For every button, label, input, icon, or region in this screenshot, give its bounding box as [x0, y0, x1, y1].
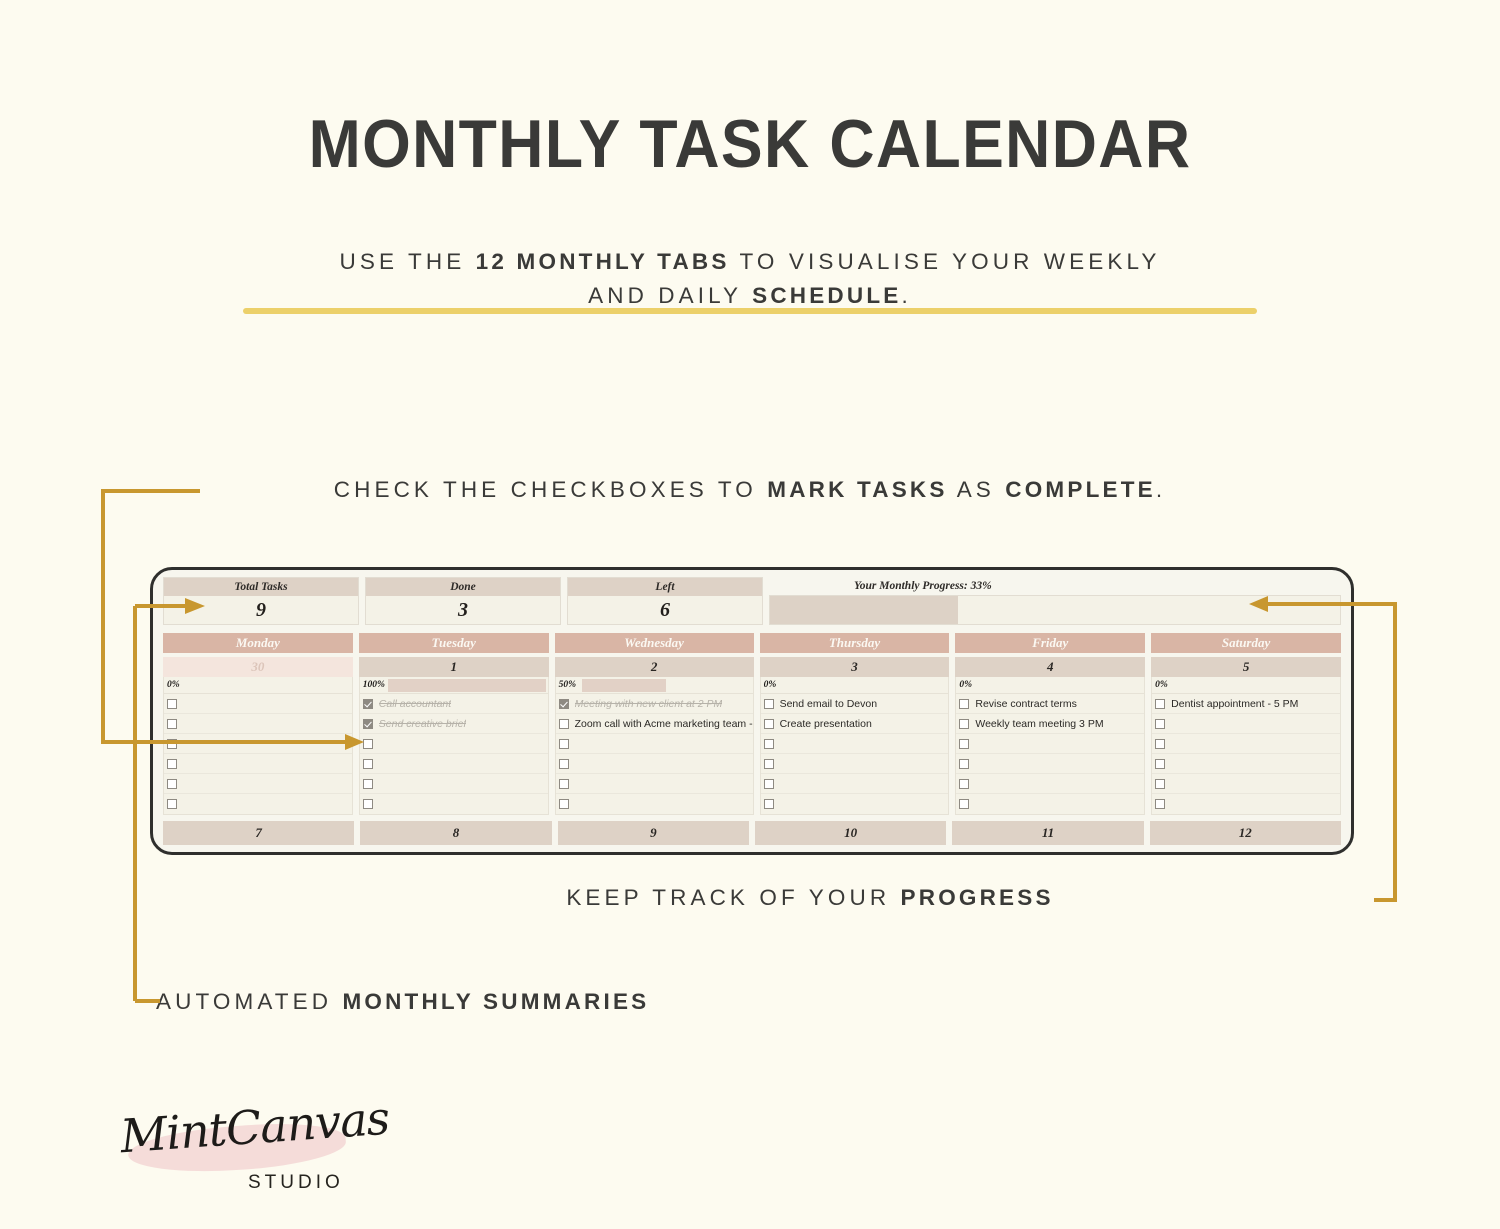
task-row[interactable] — [164, 774, 352, 794]
task-checkbox[interactable] — [764, 699, 774, 709]
day-date-cell[interactable]: 8 — [360, 821, 551, 845]
next-week-day-column: 7 — [163, 821, 354, 845]
day-date-cell[interactable]: 2 — [555, 657, 754, 677]
task-row[interactable] — [1152, 794, 1340, 814]
task-checkbox[interactable] — [559, 699, 569, 709]
day-progress-row: 0% — [760, 677, 950, 694]
task-row[interactable] — [761, 774, 949, 794]
day-progress-track — [982, 679, 1142, 692]
task-row[interactable] — [956, 734, 1144, 754]
task-checkbox[interactable] — [959, 759, 969, 769]
task-checkbox[interactable] — [1155, 779, 1165, 789]
task-label[interactable]: Send creative brief — [379, 718, 467, 730]
stat-label: Total Tasks — [164, 578, 358, 596]
task-row[interactable] — [360, 774, 548, 794]
day-progress-fill — [582, 679, 666, 692]
task-checkbox[interactable] — [167, 799, 177, 809]
task-row[interactable]: Create presentation — [761, 714, 949, 734]
week-row-1: Monday300%Tuesday1100%Call accountantSen… — [159, 625, 1345, 815]
task-row[interactable]: Send email to Devon — [761, 694, 949, 714]
task-list: Dentist appointment - 5 PM — [1151, 694, 1341, 815]
task-checkbox[interactable] — [1155, 699, 1165, 709]
task-checkbox[interactable] — [559, 759, 569, 769]
task-row[interactable] — [164, 694, 352, 714]
day-progress-row: 0% — [1151, 677, 1341, 694]
day-column-friday: Friday40%Revise contract termsWeekly tea… — [955, 633, 1145, 815]
day-progress-row: 50% — [555, 677, 754, 694]
title-divider — [243, 308, 1257, 314]
day-column-tuesday: Tuesday1100%Call accountantSend creative… — [359, 633, 549, 815]
day-progress-row: 100% — [359, 677, 549, 694]
task-row[interactable] — [360, 734, 548, 754]
task-checkbox[interactable] — [1155, 799, 1165, 809]
task-row[interactable] — [164, 734, 352, 754]
day-progress-track — [787, 679, 947, 692]
stat-value: 9 — [164, 596, 358, 624]
day-date-cell[interactable]: 5 — [1151, 657, 1341, 677]
task-row[interactable] — [956, 754, 1144, 774]
monthly-progress-track — [769, 595, 1341, 625]
task-label[interactable]: Create presentation — [780, 718, 872, 730]
task-checkbox[interactable] — [167, 759, 177, 769]
logo-studio-label: STUDIO — [248, 1172, 344, 1194]
task-row[interactable] — [1152, 754, 1340, 774]
instruction-emphasis: MONTHLY SUMMARIES — [342, 989, 649, 1014]
task-checkbox[interactable] — [959, 799, 969, 809]
task-row[interactable] — [956, 794, 1144, 814]
task-label[interactable]: Meeting with new client at 2 PM — [575, 698, 723, 710]
day-name-header: Thursday — [760, 633, 950, 653]
task-list: Revise contract termsWeekly team meeting… — [955, 694, 1145, 815]
monthly-progress-label: Your Monthly Progress: 33% — [769, 577, 1341, 595]
stat-label: Done — [366, 578, 560, 596]
brand-logo: MintCanvas STUDIO — [120, 1100, 370, 1205]
instruction-emphasis: SCHEDULE — [752, 283, 901, 308]
task-checkbox[interactable] — [559, 719, 569, 729]
stat-label: Left — [568, 578, 762, 596]
task-checkbox[interactable] — [764, 779, 774, 789]
task-label[interactable]: Call accountant — [379, 698, 451, 710]
task-list — [163, 694, 353, 815]
task-list: Send email to DevonCreate presentation — [760, 694, 950, 815]
stat-total-tasks: Total Tasks 9 — [163, 577, 359, 625]
task-checkbox[interactable] — [1155, 719, 1165, 729]
task-label[interactable]: Weekly team meeting 3 PM — [975, 718, 1103, 730]
task-row[interactable]: Revise contract terms — [956, 694, 1144, 714]
task-checkbox[interactable] — [363, 699, 373, 709]
instruction-block-progress: KEEP TRACK OF YOUR PROGRESS — [0, 885, 1500, 911]
task-row[interactable] — [761, 754, 949, 774]
task-checkbox[interactable] — [764, 739, 774, 749]
task-checkbox[interactable] — [363, 719, 373, 729]
day-progress-label: 0% — [761, 680, 787, 690]
instruction-emphasis: 12 MONTHLY TABS — [476, 249, 730, 274]
day-name-header: Wednesday — [555, 633, 754, 653]
instruction-text: . — [901, 283, 911, 308]
day-progress-row: 0% — [163, 677, 353, 694]
day-date-cell[interactable]: 30 — [163, 657, 353, 677]
task-label[interactable]: Revise contract terms — [975, 698, 1077, 710]
day-progress-track — [582, 679, 751, 692]
instruction-text: USE THE — [340, 249, 476, 274]
task-row[interactable] — [1152, 774, 1340, 794]
task-checkbox[interactable] — [1155, 759, 1165, 769]
task-row[interactable] — [1152, 714, 1340, 734]
day-progress-label: 0% — [164, 680, 190, 690]
day-name-header: Tuesday — [359, 633, 549, 653]
day-progress-track — [1178, 679, 1338, 692]
day-column-thursday: Thursday30%Send email to DevonCreate pre… — [760, 633, 950, 815]
day-date-cell[interactable]: 3 — [760, 657, 950, 677]
task-label[interactable]: Send email to Devon — [780, 698, 877, 710]
day-progress-track — [388, 679, 546, 692]
stat-left: Left 6 — [567, 577, 763, 625]
day-progress-label: 50% — [556, 680, 582, 690]
instruction-text: AUTOMATED — [156, 989, 342, 1014]
instruction-block-tabs: USE THE 12 MONTHLY TABS TO VISUALISE YOU… — [0, 245, 1500, 313]
monthly-progress-fill — [770, 596, 958, 624]
task-row[interactable] — [164, 754, 352, 774]
day-progress-fill — [388, 679, 546, 692]
task-checkbox[interactable] — [1155, 739, 1165, 749]
task-checkbox[interactable] — [363, 739, 373, 749]
task-checkbox[interactable] — [559, 739, 569, 749]
task-row[interactable] — [556, 754, 753, 774]
day-progress-label: 0% — [1152, 680, 1178, 690]
task-list: Call accountantSend creative brief — [359, 694, 549, 815]
task-row[interactable]: Dentist appointment - 5 PM — [1152, 694, 1340, 714]
day-date-cell[interactable]: 9 — [558, 821, 749, 845]
day-column-wednesday: Wednesday250%Meeting with new client at … — [555, 633, 754, 815]
task-checkbox[interactable] — [559, 799, 569, 809]
instruction-text: . — [1156, 477, 1166, 502]
task-checkbox[interactable] — [167, 779, 177, 789]
next-week-day-column: 12 — [1150, 821, 1341, 845]
instruction-block-checkboxes: CHECK THE CHECKBOXES TO MARK TASKS AS CO… — [0, 477, 1500, 503]
page-title: MONTHLY TASK CALENDAR — [60, 105, 1440, 183]
day-date-cell[interactable]: 10 — [755, 821, 946, 845]
task-row[interactable]: Send creative brief — [360, 714, 548, 734]
stat-value: 6 — [568, 596, 762, 624]
task-checkbox[interactable] — [959, 779, 969, 789]
day-progress-label: 100% — [360, 680, 388, 690]
day-progress-label: 0% — [956, 680, 982, 690]
task-checkbox[interactable] — [167, 739, 177, 749]
week-row-2: 789101112 — [159, 815, 1345, 845]
day-progress-row: 0% — [955, 677, 1145, 694]
instruction-text: CHECK THE CHECKBOXES TO — [334, 477, 767, 502]
task-list: Meeting with new client at 2 PMZoom call… — [555, 694, 754, 815]
task-label[interactable]: Zoom call with Acme marketing team - — [575, 718, 753, 730]
instruction-text: KEEP TRACK OF YOUR — [566, 885, 900, 910]
day-name-header: Monday — [163, 633, 353, 653]
task-checkbox[interactable] — [363, 799, 373, 809]
next-week-day-column: 9 — [558, 821, 749, 845]
task-row[interactable] — [556, 774, 753, 794]
day-column-monday: Monday300% — [163, 633, 353, 815]
task-row[interactable] — [164, 714, 352, 734]
task-row[interactable] — [556, 734, 753, 754]
day-date-cell[interactable]: 7 — [163, 821, 354, 845]
task-checkbox[interactable] — [764, 799, 774, 809]
monthly-progress: Your Monthly Progress: 33% — [769, 577, 1341, 625]
task-checkbox[interactable] — [959, 699, 969, 709]
task-row[interactable] — [761, 734, 949, 754]
day-date-cell[interactable]: 12 — [1150, 821, 1341, 845]
instruction-emphasis: MARK TASKS — [767, 477, 947, 502]
day-date-cell[interactable]: 4 — [955, 657, 1145, 677]
day-column-saturday: Saturday50%Dentist appointment - 5 PM — [1151, 633, 1341, 815]
instruction-line-1: USE THE 12 MONTHLY TABS TO VISUALISE YOU… — [0, 245, 1500, 279]
task-checkbox[interactable] — [559, 779, 569, 789]
task-row[interactable] — [164, 794, 352, 814]
task-checkbox[interactable] — [764, 719, 774, 729]
day-date-cell[interactable]: 11 — [952, 821, 1143, 845]
day-date-cell[interactable]: 1 — [359, 657, 549, 677]
task-checkbox[interactable] — [363, 759, 373, 769]
day-name-header: Saturday — [1151, 633, 1341, 653]
task-row[interactable] — [761, 794, 949, 814]
stat-value: 3 — [366, 596, 560, 624]
next-week-day-column: 10 — [755, 821, 946, 845]
instruction-emphasis: COMPLETE — [1005, 477, 1156, 502]
task-row[interactable] — [956, 774, 1144, 794]
stat-done: Done 3 — [365, 577, 561, 625]
instruction-text: AND DAILY — [588, 283, 752, 308]
task-row[interactable] — [1152, 734, 1340, 754]
day-progress-track — [190, 679, 350, 692]
summary-row: Total Tasks 9 Done 3 Left 6 Your Monthly… — [159, 577, 1345, 625]
next-week-day-column: 11 — [952, 821, 1143, 845]
task-checkbox[interactable] — [959, 719, 969, 729]
task-row[interactable]: Call accountant — [360, 694, 548, 714]
instruction-block-summaries: AUTOMATED MONTHLY SUMMARIES — [156, 989, 649, 1015]
task-row[interactable]: Weekly team meeting 3 PM — [956, 714, 1144, 734]
task-checkbox[interactable] — [167, 719, 177, 729]
instruction-text: AS — [948, 477, 1006, 502]
task-label[interactable]: Dentist appointment - 5 PM — [1171, 698, 1298, 710]
instruction-emphasis: PROGRESS — [901, 885, 1054, 910]
task-row[interactable] — [556, 794, 753, 814]
task-checkbox[interactable] — [167, 699, 177, 709]
logo-wordmark: MintCanvas — [118, 1091, 390, 1164]
task-row[interactable]: Meeting with new client at 2 PM — [556, 694, 753, 714]
task-row[interactable] — [360, 754, 548, 774]
task-checkbox[interactable] — [363, 779, 373, 789]
task-checkbox[interactable] — [959, 739, 969, 749]
task-row[interactable] — [360, 794, 548, 814]
task-checkbox[interactable] — [764, 759, 774, 769]
instruction-text: TO VISUALISE YOUR WEEKLY — [730, 249, 1161, 274]
next-week-day-column: 8 — [360, 821, 551, 845]
day-name-header: Friday — [955, 633, 1145, 653]
task-row[interactable]: Zoom call with Acme marketing team - — [556, 714, 753, 734]
calendar-spreadsheet[interactable]: Total Tasks 9 Done 3 Left 6 Your Monthly… — [150, 567, 1354, 855]
